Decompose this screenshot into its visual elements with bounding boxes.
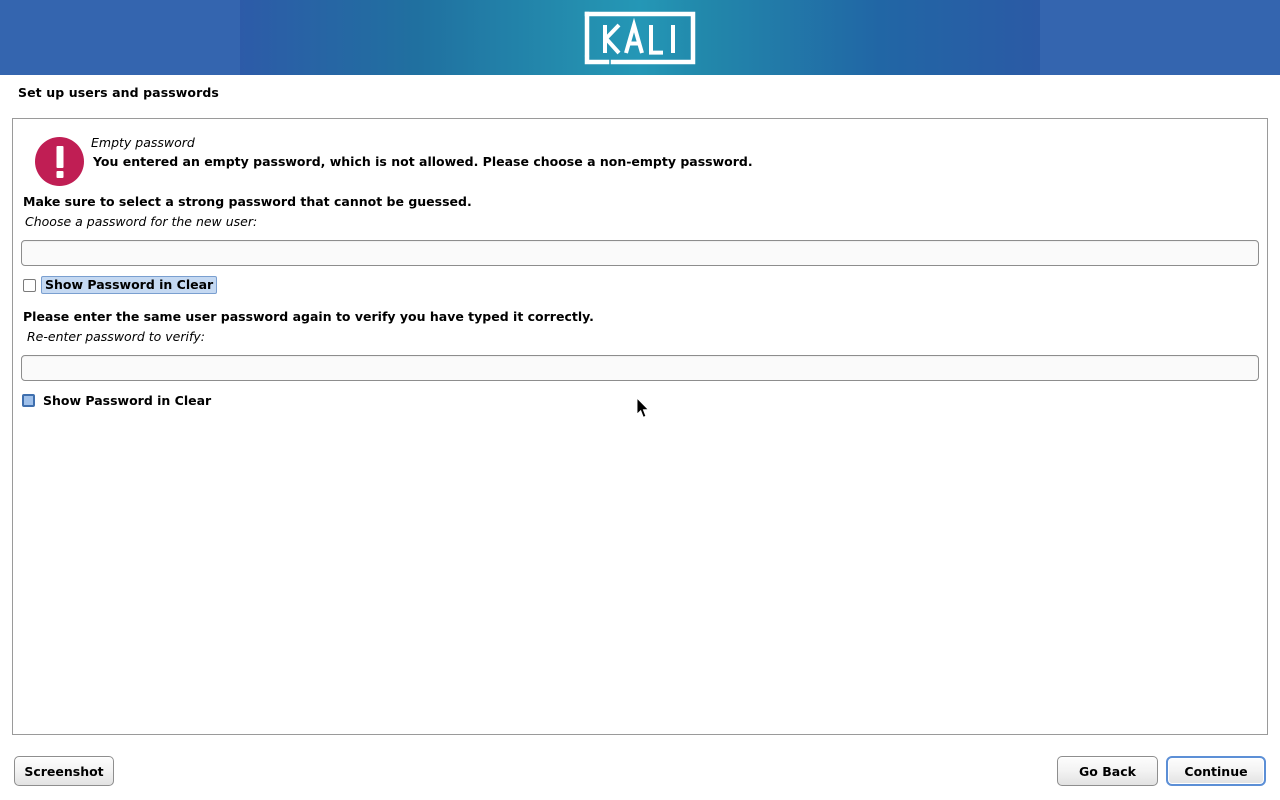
page-title: Set up users and passwords — [18, 85, 219, 100]
show-password-checkbox-1[interactable] — [23, 279, 36, 292]
exclamation-bar — [56, 146, 63, 168]
show-password-label-1[interactable]: Show Password in Clear — [41, 276, 217, 294]
show-password-in-clear-row-1[interactable]: Show Password in Clear — [23, 276, 217, 294]
show-password-checkbox-2[interactable] — [22, 394, 35, 407]
password-verify-input[interactable] — [21, 355, 1259, 381]
password-field-label: Choose a password for the new user: — [25, 214, 257, 229]
exclamation-dot — [56, 171, 63, 178]
error-title: Empty password — [91, 135, 195, 150]
error-message: You entered an empty password, which is … — [93, 154, 753, 169]
password-verify-field-label: Re-enter password to verify: — [27, 329, 205, 344]
show-password-label-2[interactable]: Show Password in Clear — [43, 393, 211, 408]
screenshot-button[interactable]: Screenshot — [14, 756, 114, 786]
continue-button[interactable]: Continue — [1166, 756, 1266, 786]
password-input[interactable] — [21, 240, 1259, 266]
installer-content-panel: Empty password You entered an empty pass… — [12, 118, 1268, 735]
kali-logo-icon — [583, 10, 697, 66]
go-back-button[interactable]: Go Back — [1057, 756, 1158, 786]
show-password-in-clear-row-2[interactable]: Show Password in Clear — [22, 391, 211, 409]
error-exclamation-icon — [35, 137, 84, 186]
password-strength-heading: Make sure to select a strong password th… — [23, 194, 472, 209]
error-notice: Empty password You entered an empty pass… — [23, 127, 1253, 193]
password-verify-heading: Please enter the same user password agai… — [23, 309, 594, 324]
installer-header-banner — [0, 0, 1280, 75]
